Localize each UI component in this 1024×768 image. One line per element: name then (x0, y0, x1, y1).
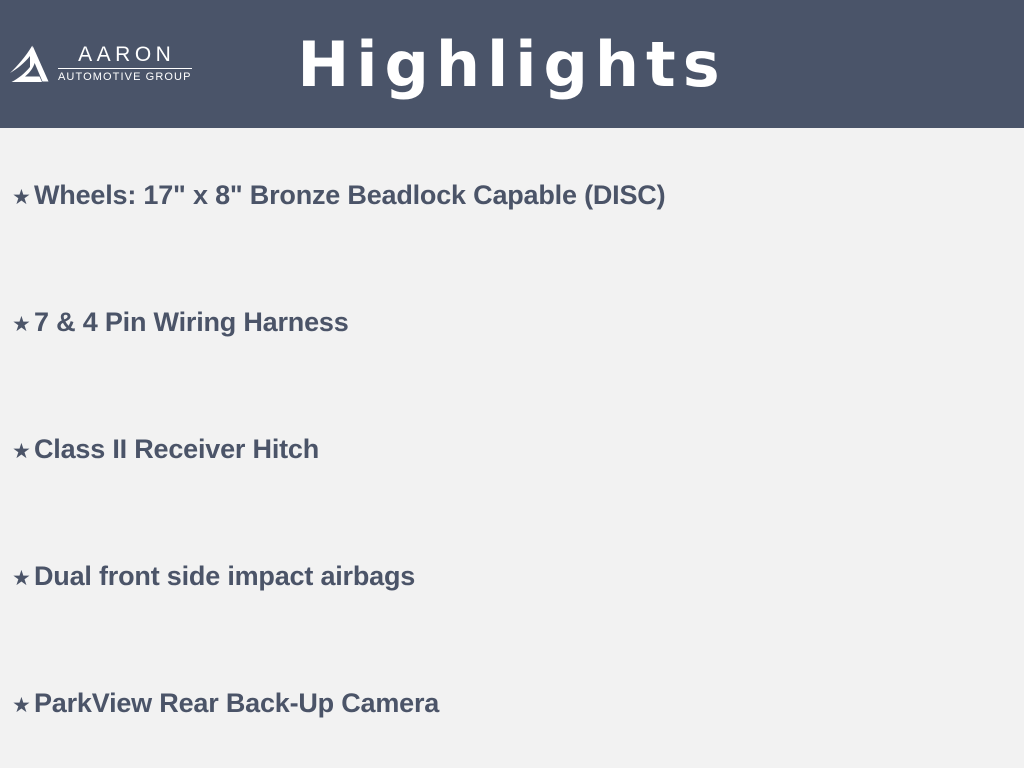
logo-brand-name: AARON (58, 43, 192, 66)
star-bullet-icon: ★ (12, 307, 34, 341)
star-bullet-icon: ★ (12, 561, 34, 595)
logo-divider-rule (58, 68, 192, 69)
list-item-label: 7 & 4 Pin Wiring Harness (34, 305, 349, 339)
list-item: ★ Class II Receiver Hitch (12, 432, 319, 472)
slide-header-bar: AARON AUTOMOTIVE GROUP Highlights (0, 0, 1024, 128)
highlights-slide: AARON AUTOMOTIVE GROUP Highlights ★ Whee… (0, 0, 1024, 768)
list-item: ★ ParkView Rear Back-Up Camera (12, 686, 439, 726)
list-item-label: ParkView Rear Back-Up Camera (34, 686, 439, 720)
star-bullet-icon: ★ (12, 688, 34, 722)
list-item-label: Wheels: 17" x 8" Bronze Beadlock Capable… (34, 178, 665, 212)
list-item: ★ Wheels: 17" x 8" Bronze Beadlock Capab… (12, 178, 665, 218)
list-item: ★ Dual front side impact airbags (12, 559, 415, 599)
star-bullet-icon: ★ (12, 434, 34, 468)
logo-tagline: AUTOMOTIVE GROUP (58, 71, 192, 84)
list-item-label: Class II Receiver Hitch (34, 432, 319, 466)
list-item: ★ 7 & 4 Pin Wiring Harness (12, 305, 349, 345)
aaron-a-swoosh-mark-icon (8, 42, 56, 84)
logo-wordmark: AARON AUTOMOTIVE GROUP (58, 43, 192, 84)
star-bullet-icon: ★ (12, 180, 34, 214)
highlights-list: ★ Wheels: 17" x 8" Bronze Beadlock Capab… (0, 128, 1024, 768)
aaron-automotive-group-logo: AARON AUTOMOTIVE GROUP (8, 42, 192, 88)
list-item-label: Dual front side impact airbags (34, 559, 415, 593)
